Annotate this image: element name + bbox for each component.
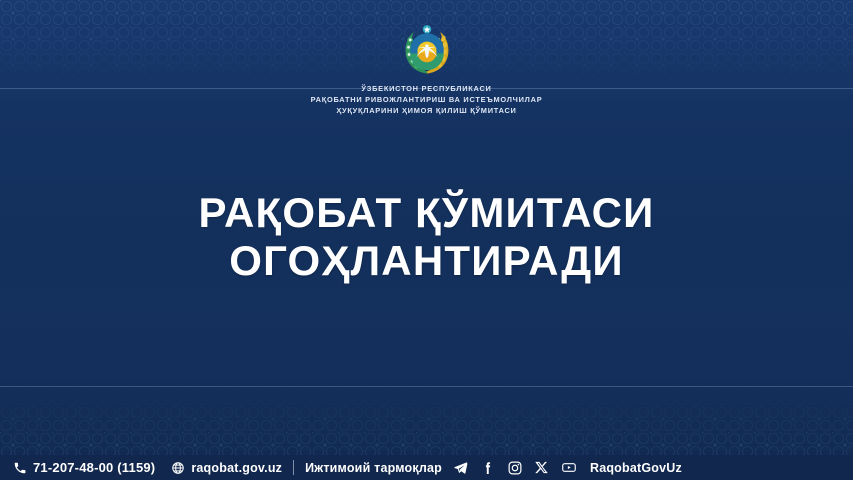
footer-separator <box>293 460 294 475</box>
x-twitter-icon[interactable] <box>534 460 550 476</box>
youtube-icon[interactable] <box>561 460 577 476</box>
announcement-slide: ЎЗБЕКИСТОН РЕСПУБЛИКАСИ РАҚОБАТНИ РИВОЖЛ… <box>0 0 853 480</box>
socials-label: Ижтимоий тармоқлар <box>305 461 442 475</box>
social-links <box>453 460 577 476</box>
facebook-icon[interactable] <box>480 460 496 476</box>
divider-bottom <box>0 386 853 387</box>
phone-number: 71-207-48-00 (1159) <box>33 460 155 475</box>
website-url: raqobat.gov.uz <box>191 461 282 475</box>
telegram-icon[interactable] <box>453 460 469 476</box>
contact-footer-bar: 71-207-48-00 (1159) raqobat.gov.uz Ижтим… <box>0 455 853 480</box>
instagram-icon[interactable] <box>507 460 523 476</box>
page-title: РАҚОБАТ ҚЎМИТАСИ ОГОҲЛАНТИРАДИ <box>0 189 853 286</box>
headline-container: РАҚОБАТ ҚЎМИТАСИ ОГОҲЛАНТИРАДИ <box>0 88 853 386</box>
phone-group[interactable]: 71-207-48-00 (1159) <box>12 460 155 475</box>
social-handle: RaqobatGovUz <box>590 461 682 475</box>
phone-icon <box>12 460 27 475</box>
globe-icon <box>170 460 185 475</box>
website-group[interactable]: raqobat.gov.uz <box>170 460 282 475</box>
uzbekistan-state-emblem-icon <box>399 22 455 78</box>
